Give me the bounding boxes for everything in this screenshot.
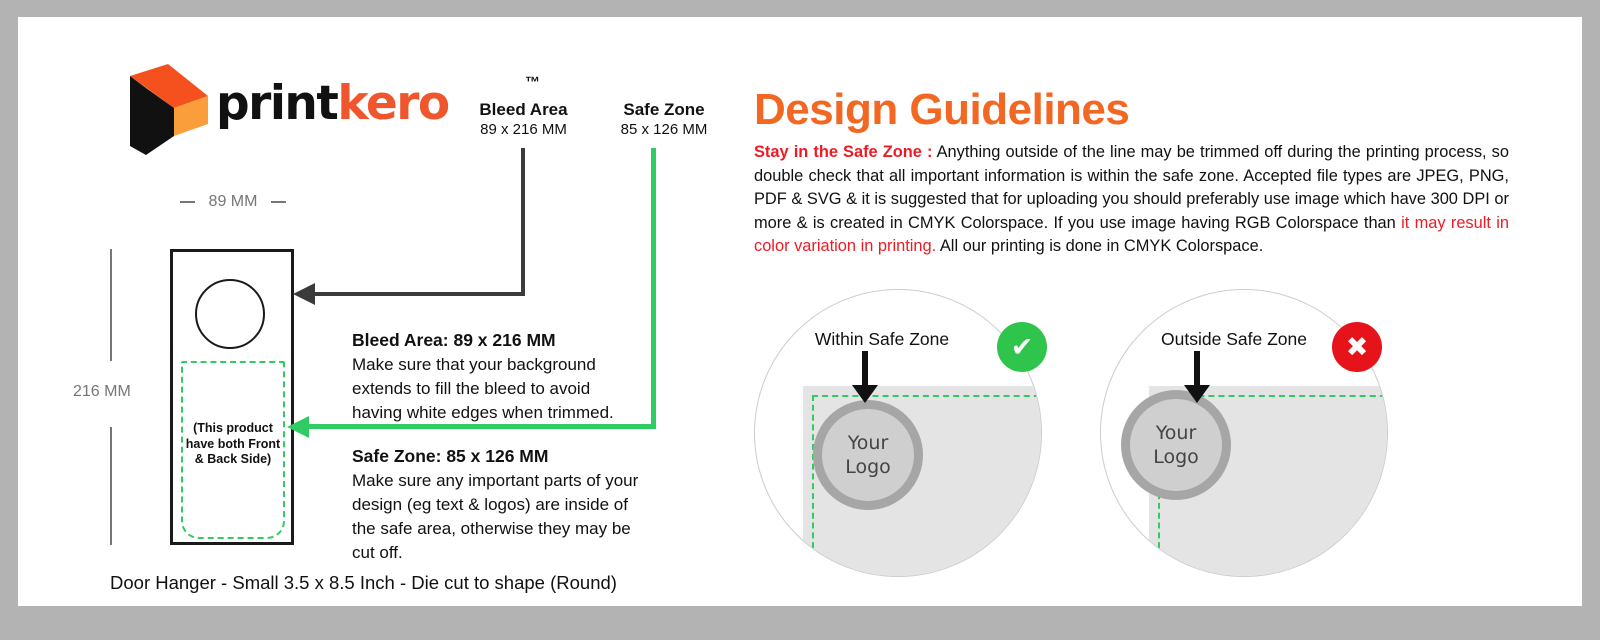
width-dimension: 89 MM (148, 193, 318, 211)
example-outside-safe-zone: YourLogo Outside Safe Zone ✖ (1100, 289, 1388, 577)
width-dimension-label: 89 MM (209, 193, 258, 211)
arrow-shaft (1194, 351, 1200, 385)
example-logo-line1: Your (1156, 422, 1197, 444)
guidelines-panel: Design Guidelines Stay in the Safe Zone … (718, 17, 1582, 606)
example-pointer-arrow-icon (852, 351, 878, 403)
design-guidelines-page: printkero ™ 89 MM 216 MM (This product h… (18, 17, 1582, 606)
example-caption-within: Within Safe Zone (738, 329, 1026, 350)
info-bleed-heading: Bleed Area: 89 x 216 MM (352, 330, 642, 351)
example-logo-line2: Logo (845, 456, 891, 478)
height-dimension-label: 216 MM (73, 383, 131, 401)
brand-wordmark: printkero (216, 76, 449, 131)
product-caption: Door Hanger - Small 3.5 x 8.5 Inch - Die… (110, 572, 617, 594)
info-safe-body: Make sure any important parts of your de… (352, 469, 642, 565)
callout-safe-zone: Safe Zone 85 x 126 MM (603, 100, 725, 140)
door-hanger-safe-zone: (This product have both Front & Back Sid… (181, 361, 285, 539)
example-logo-line1: Your (848, 432, 889, 454)
bleed-leader-line-vertical (521, 148, 525, 296)
info-block-safe-zone: Safe Zone: 85 x 126 MM Make sure any imp… (352, 446, 642, 565)
callout-safe-title: Safe Zone (603, 100, 725, 120)
door-hanger-note: (This product have both Front & Back Sid… (183, 421, 283, 468)
bleed-leader-arrow-icon (293, 283, 315, 305)
brand-logo: printkero ™ (128, 62, 448, 157)
example-pointer-arrow-icon (1184, 351, 1210, 403)
brand-name-print: print (216, 76, 337, 131)
example-within-safe-zone: YourLogo Within Safe Zone ✔ (754, 289, 1042, 577)
callout-safe-value: 85 x 126 MM (603, 120, 725, 140)
info-bleed-body: Make sure that your background extends t… (352, 353, 642, 425)
example-logo-placeholder: YourLogo (1121, 390, 1231, 500)
safe-leader-arrow-icon (287, 416, 309, 438)
height-dimension-line-lower (110, 427, 112, 545)
product-spec-panel: printkero ™ 89 MM 216 MM (This product h… (18, 17, 718, 606)
brand-name-kero: kero (337, 76, 448, 131)
guidelines-text-part2: All our printing is done in CMYK Colorsp… (936, 237, 1263, 255)
safe-leader-line-vertical (651, 148, 656, 429)
printkero-p-logo-icon (128, 62, 210, 157)
guidelines-paragraph: Stay in the Safe Zone : Anything outside… (754, 141, 1509, 259)
check-circle-icon: ✔ (997, 322, 1047, 372)
door-hanger-hole-cutout (195, 279, 265, 349)
callout-bleed-title: Bleed Area (461, 100, 586, 120)
callout-bleed-area: Bleed Area 89 x 216 MM (461, 100, 586, 140)
dimension-tick-right (271, 201, 286, 203)
trademark-symbol: ™ (525, 74, 540, 91)
info-safe-heading: Safe Zone: 85 x 126 MM (352, 446, 642, 467)
dimension-tick-left (180, 201, 195, 203)
arrow-head (1184, 385, 1210, 403)
example-logo-line2: Logo (1153, 446, 1199, 468)
info-block-bleed-area: Bleed Area: 89 x 216 MM Make sure that y… (352, 330, 642, 425)
cross-circle-icon: ✖ (1332, 322, 1382, 372)
arrow-head (852, 385, 878, 403)
bleed-leader-line-horizontal (313, 292, 525, 296)
arrow-shaft (862, 351, 868, 385)
guidelines-lead-in: Stay in the Safe Zone : (754, 143, 932, 161)
page-title: Design Guidelines (754, 85, 1129, 135)
height-dimension-line-upper (110, 249, 112, 361)
example-logo-placeholder: YourLogo (813, 400, 923, 510)
callout-bleed-value: 89 x 216 MM (461, 120, 586, 140)
